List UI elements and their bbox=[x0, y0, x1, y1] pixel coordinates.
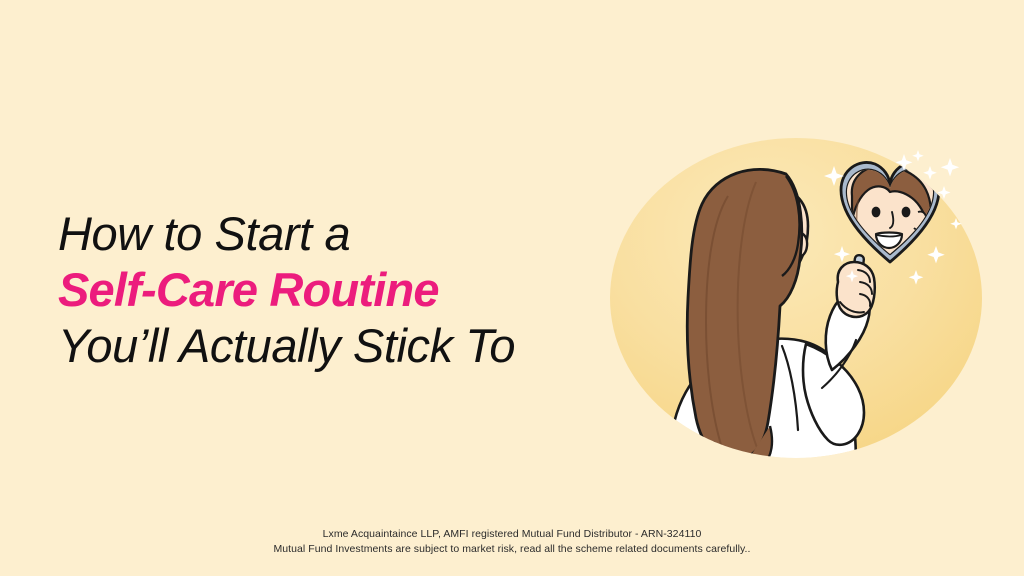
illustration-woman-holding-heart-mirror bbox=[600, 130, 1000, 470]
reflection-eye-right bbox=[902, 207, 911, 218]
hand bbox=[837, 262, 875, 317]
disclaimer-line-1: Lxme Acquaintaince LLP, AMFI registered … bbox=[0, 527, 1024, 542]
sparkle-icon-3 bbox=[923, 166, 937, 180]
headline-line-1: How to Start a bbox=[58, 206, 618, 262]
reflection-eye-left bbox=[872, 207, 881, 218]
sparkle-icon-4 bbox=[941, 158, 959, 176]
slide-canvas: How to Start a Self-Care Routine You’ll … bbox=[0, 0, 1024, 576]
headline-line-3: You’ll Actually Stick To bbox=[58, 318, 618, 374]
disclaimer-line-2: Mutual Fund Investments are subject to m… bbox=[0, 542, 1024, 557]
headline-block: How to Start a Self-Care Routine You’ll … bbox=[58, 206, 618, 374]
disclaimer-block: Lxme Acquaintaince LLP, AMFI registered … bbox=[0, 527, 1024, 557]
illustration-svg bbox=[600, 130, 1000, 470]
sparkle-icon-6 bbox=[912, 150, 923, 161]
headline-line-2-accent: Self-Care Routine bbox=[58, 262, 618, 318]
